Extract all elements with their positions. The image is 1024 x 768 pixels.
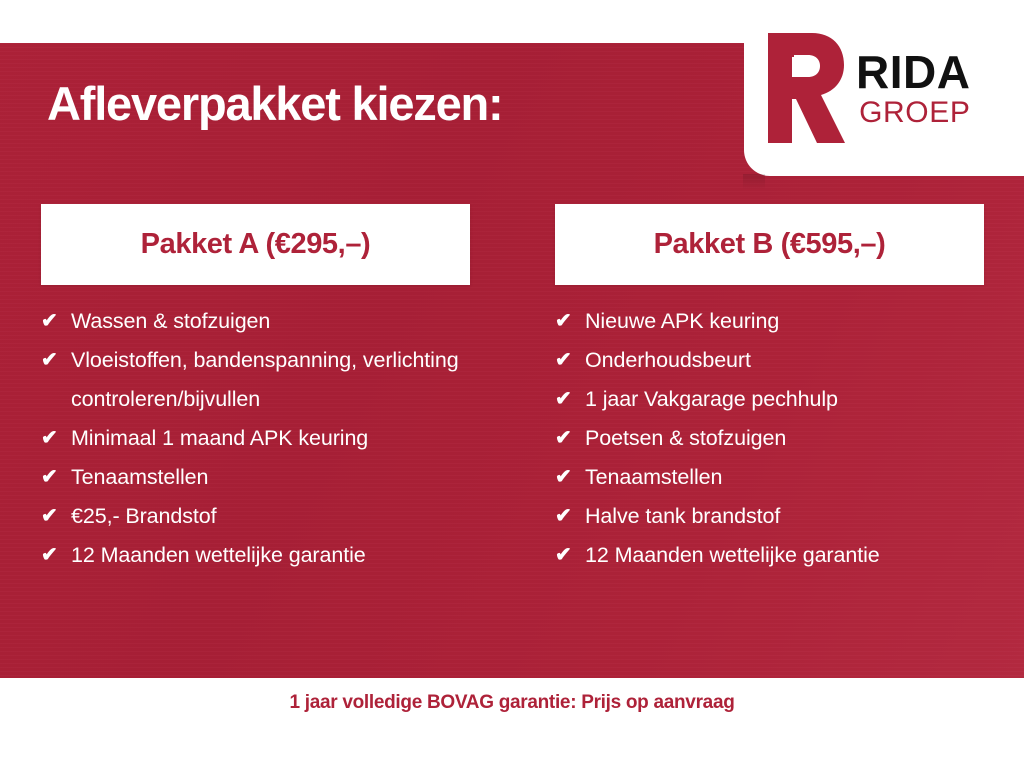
list-item: ✔ Vloeistoffen, bandenspanning, verlicht…: [41, 341, 470, 419]
check-icon: ✔: [555, 341, 585, 380]
package-a-title: Pakket A (€295,–): [141, 228, 371, 261]
list-item: ✔ Poetsen & stofzuigen: [555, 419, 984, 458]
feature-label: Minimaal 1 maand APK keuring: [71, 419, 470, 458]
list-item: ✔ 12 Maanden wettelijke garantie: [41, 536, 470, 575]
list-item: ✔ Tenaamstellen: [555, 458, 984, 497]
list-item: ✔ Nieuwe APK keuring: [555, 302, 984, 341]
list-item: ✔ Halve tank brandstof: [555, 497, 984, 536]
feature-label: Poetsen & stofzuigen: [585, 419, 984, 458]
check-icon: ✔: [555, 419, 585, 458]
feature-label: Nieuwe APK keuring: [585, 302, 984, 341]
feature-label: 12 Maanden wettelijke garantie: [71, 536, 470, 575]
rida-r-monogram-icon: [762, 29, 846, 147]
check-icon: ✔: [555, 458, 585, 497]
list-item: ✔ Tenaamstellen: [41, 458, 470, 497]
package-b-title: Pakket B (€595,–): [654, 228, 886, 261]
package-a-header[interactable]: Pakket A (€295,–): [41, 204, 470, 285]
check-icon: ✔: [41, 497, 71, 536]
list-item: ✔ Wassen & stofzuigen: [41, 302, 470, 341]
feature-label: Vloeistoffen, bandenspanning, verlichtin…: [71, 341, 470, 419]
feature-label: Onderhoudsbeurt: [585, 341, 984, 380]
check-icon: ✔: [41, 419, 71, 458]
check-icon: ✔: [41, 302, 71, 341]
feature-label: 12 Maanden wettelijke garantie: [585, 536, 984, 575]
feature-label: €25,- Brandstof: [71, 497, 470, 536]
check-icon: ✔: [555, 536, 585, 575]
check-icon: ✔: [555, 302, 585, 341]
package-column-a: Pakket A (€295,–) ✔ Wassen & stofzuigen …: [0, 204, 512, 575]
slide-canvas: Afleverpakket kiezen: RIDA GROEP Pakket …: [0, 0, 1024, 768]
footer-note: 1 jaar volledige BOVAG garantie: Prijs o…: [289, 692, 734, 714]
list-item: ✔ 1 jaar Vakgarage pechhulp: [555, 380, 984, 419]
page-title: Afleverpakket kiezen:: [47, 80, 502, 127]
list-item: ✔ 12 Maanden wettelijke garantie: [555, 536, 984, 575]
list-item: ✔ Minimaal 1 maand APK keuring: [41, 419, 470, 458]
brand-logo-panel: RIDA GROEP: [744, 0, 1024, 176]
packages-row: Pakket A (€295,–) ✔ Wassen & stofzuigen …: [0, 204, 1024, 575]
feature-label: Wassen & stofzuigen: [71, 302, 470, 341]
package-b-header[interactable]: Pakket B (€595,–): [555, 204, 984, 285]
package-a-feature-list: ✔ Wassen & stofzuigen ✔ Vloeistoffen, ba…: [41, 302, 470, 575]
check-icon: ✔: [41, 341, 71, 380]
feature-label: 1 jaar Vakgarage pechhulp: [585, 380, 984, 419]
brand-subname: GROEP: [859, 98, 970, 128]
check-icon: ✔: [555, 497, 585, 536]
footer-bar: 1 jaar volledige BOVAG garantie: Prijs o…: [0, 678, 1024, 768]
package-b-feature-list: ✔ Nieuwe APK keuring ✔ Onderhoudsbeurt ✔…: [555, 302, 984, 575]
feature-label: Tenaamstellen: [71, 458, 470, 497]
list-item: ✔ €25,- Brandstof: [41, 497, 470, 536]
list-item: ✔ Onderhoudsbeurt: [555, 341, 984, 380]
check-icon: ✔: [41, 458, 71, 497]
feature-label: Halve tank brandstof: [585, 497, 984, 536]
package-column-b: Pakket B (€595,–) ✔ Nieuwe APK keuring ✔…: [512, 204, 1024, 575]
brand-wordmark: RIDA GROEP: [856, 49, 970, 128]
check-icon: ✔: [41, 536, 71, 575]
brand-name: RIDA: [856, 49, 970, 95]
check-icon: ✔: [555, 380, 585, 419]
feature-label: Tenaamstellen: [585, 458, 984, 497]
